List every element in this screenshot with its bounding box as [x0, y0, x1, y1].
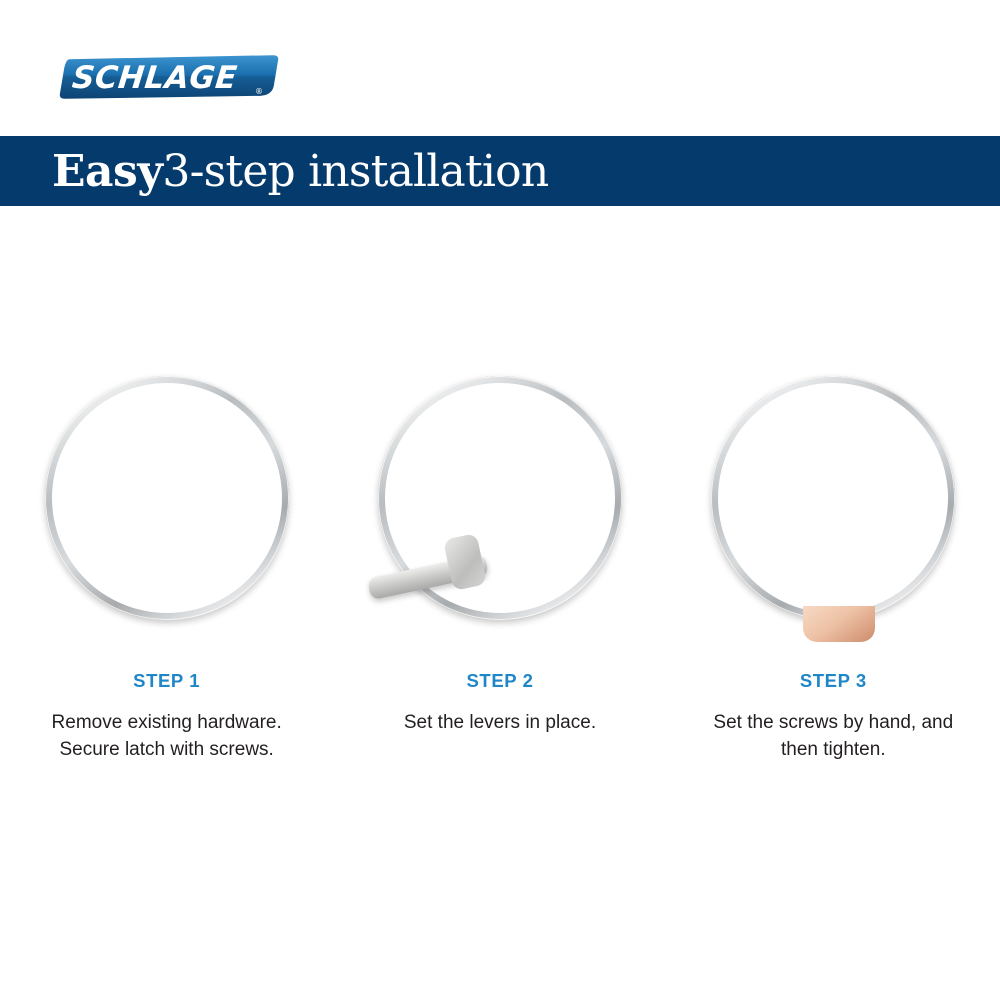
vase — [230, 464, 240, 486]
schlage-logo-svg: SCHLAGE ® — [55, 52, 283, 102]
step-3-photo — [707, 370, 959, 632]
strike-bolt — [793, 494, 807, 516]
latch-spindle-hole — [100, 494, 109, 503]
plant — [221, 418, 247, 470]
step-3-description: Set the screws by hand, and then tighten… — [708, 710, 958, 764]
step-3-scene — [711, 376, 955, 620]
step-column-2: STEP 2 Set the levers in place. — [333, 370, 666, 764]
thumbnail — [173, 526, 193, 550]
logo-wordmark: SCHLAGE — [70, 60, 239, 96]
step-1-photo — [41, 370, 293, 632]
wall-picture — [733, 390, 773, 446]
faceplate-screw-top — [544, 466, 551, 473]
step-3-photo-circle — [711, 376, 955, 620]
bed-linens — [560, 508, 622, 558]
lamp — [574, 424, 602, 466]
faceplate-screw-top — [180, 456, 187, 463]
step-2-label: STEP 2 — [466, 670, 533, 692]
fingernail-3 — [863, 430, 883, 446]
logo-trademark-icon: ® — [255, 87, 263, 96]
finger-1 — [809, 448, 835, 522]
step-1-photo-circle — [45, 376, 289, 620]
headline-bold-word: Easy — [52, 146, 162, 197]
latch-spindle-hole — [470, 492, 480, 502]
step-1-scene — [45, 376, 289, 620]
step-1-label: STEP 1 — [133, 670, 200, 692]
fingernail-2 — [837, 436, 857, 452]
step-1-description: Remove existing hardware. Secure latch w… — [42, 710, 292, 764]
latch-bolt-extended — [179, 478, 201, 506]
fingernail — [414, 488, 436, 504]
steps-row: STEP 1 Remove existing hardware. Secure … — [0, 370, 1000, 764]
latch-bolt-extended — [544, 486, 564, 514]
screw-head — [181, 516, 191, 526]
schlage-logo: SCHLAGE ® — [55, 52, 283, 102]
door-jamb — [769, 376, 787, 568]
step-column-3: STEP 3 Set the screws by hand, and then … — [667, 370, 1000, 764]
faceplate-screw-bottom — [544, 536, 551, 543]
step-3-label: STEP 3 — [800, 670, 867, 692]
step-2-description: Set the levers in place. — [375, 710, 625, 737]
headline-text: Easy3-step installation — [52, 148, 548, 194]
step-2-photo — [374, 370, 626, 632]
headline-banner: Easy3-step installation — [0, 136, 1000, 206]
step-column-1: STEP 1 Remove existing hardware. Secure … — [0, 370, 333, 764]
headline-rest: 3-step installation — [162, 146, 548, 197]
fingernail-4 — [889, 440, 907, 455]
wrist — [803, 606, 875, 642]
